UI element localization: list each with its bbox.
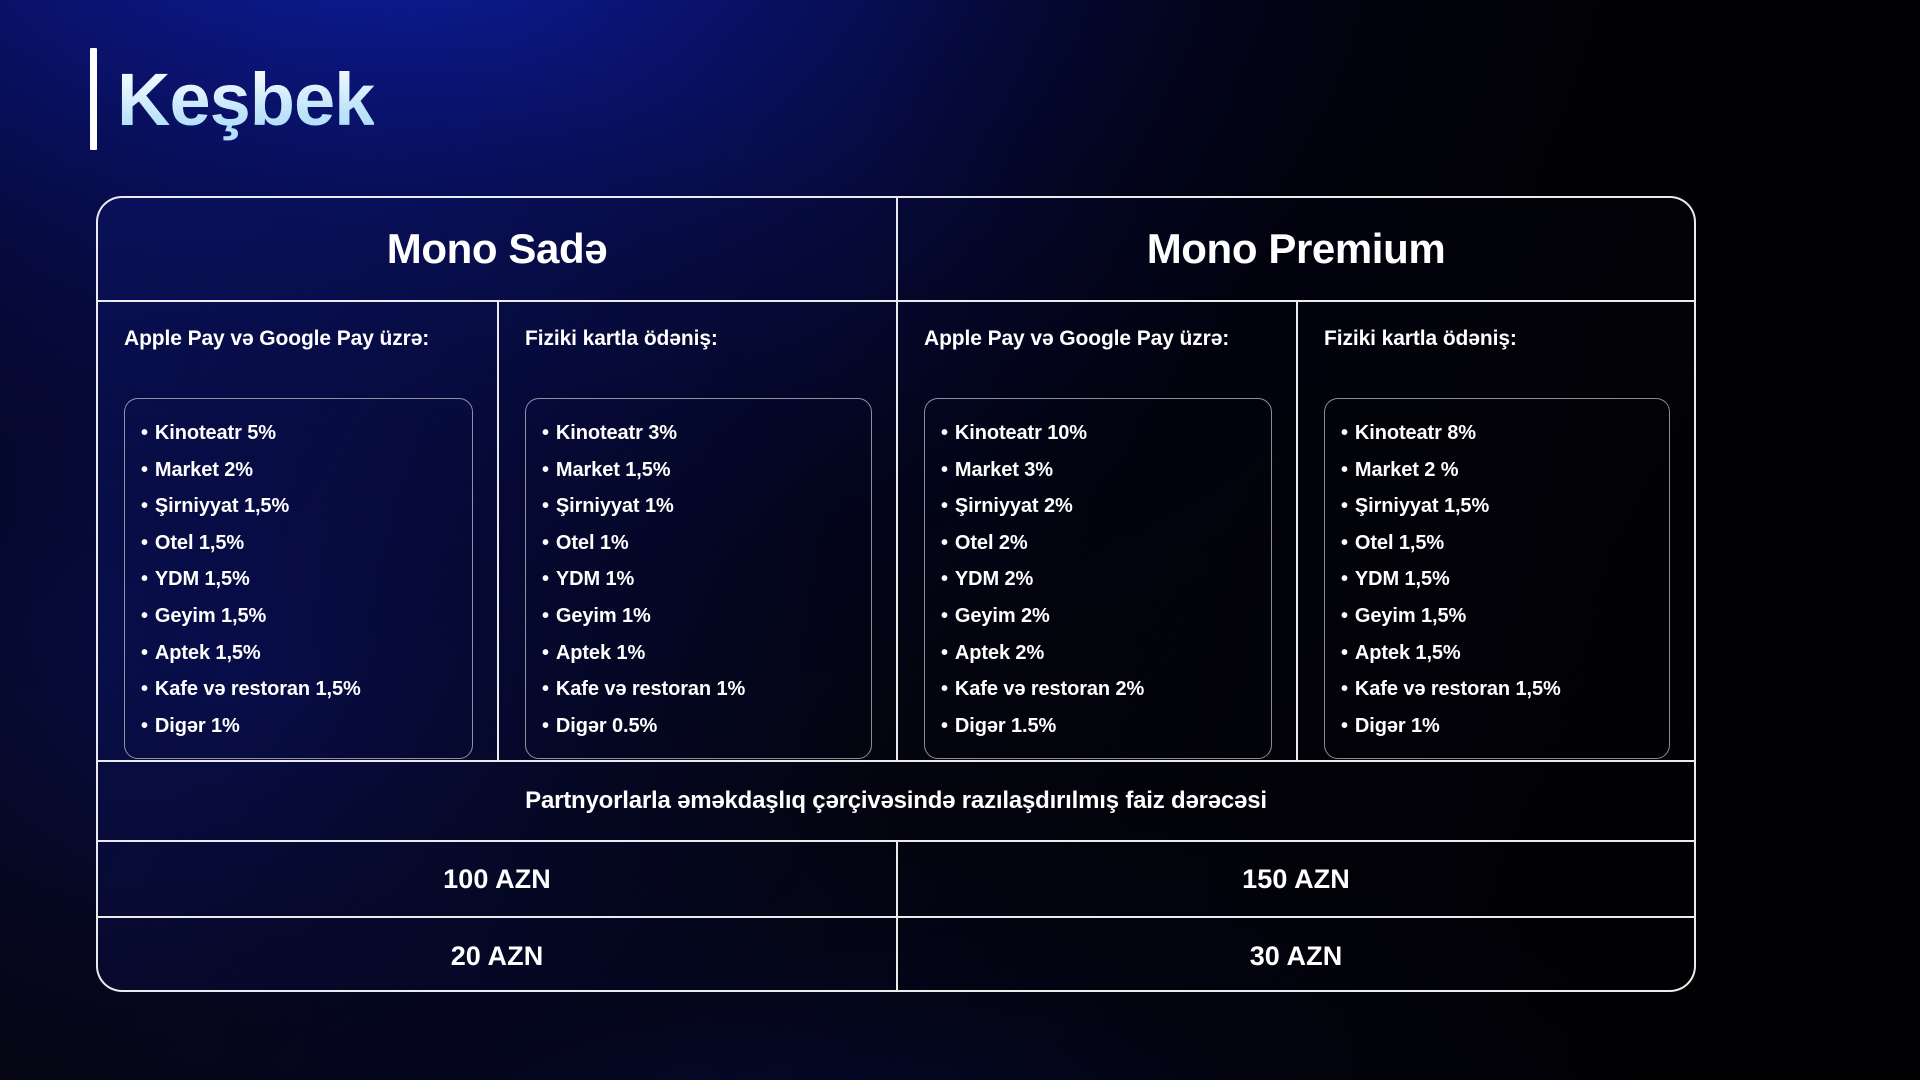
list-item-label: Kafe və restoran 1,5% [1355,678,1561,700]
list-item: •Market 3% [941,452,1255,489]
list-item: •Digər 0.5% [542,708,855,745]
list-item: •Geyim 1% [542,598,855,635]
bullet-icon: • [542,715,549,737]
bullet-icon: • [141,532,148,554]
list-item-label: Digər 0.5% [556,715,657,737]
bullet-icon: • [542,605,549,627]
list-item-label: YDM 1,5% [1355,568,1450,590]
list-item-label: Market 2% [155,459,253,481]
list-item: •Market 2% [141,452,456,489]
list-item-label: Geyim 2% [955,605,1050,627]
list-item: •Digər 1.5% [941,708,1255,745]
page-title-text: Keşbek [117,48,374,152]
list-item-label: Geyim 1,5% [155,605,266,627]
amount-cell-premium-first: 150 AZN [896,842,1694,916]
list-item-label: Kafe və restoran 2% [955,678,1144,700]
list-item-label: YDM 1% [556,568,634,590]
items-box-premium-digital: •Kinoteatr 10% •Market 3% •Şirniyyat 2% … [924,398,1272,759]
bullet-icon: • [141,605,148,627]
plan-header-premium: Mono Premium [896,198,1694,300]
list-item-label: Otel 2% [955,532,1028,554]
bullet-icon: • [941,642,948,664]
list-item: •Aptek 2% [941,635,1255,672]
items-box-sade-physical: •Kinoteatr 3% •Market 1,5% •Şirniyyat 1%… [525,398,872,759]
bullet-icon: • [1341,715,1348,737]
list-item-label: Digər 1.5% [955,715,1056,737]
list-item: •YDM 1% [542,561,855,598]
list-item-label: Geyim 1,5% [1355,605,1466,627]
list-item: •YDM 1,5% [1341,561,1653,598]
plan-header-row: Mono Sadə Mono Premium [98,198,1694,302]
bullet-icon: • [941,495,948,517]
bullet-icon: • [941,715,948,737]
list-item: •Aptek 1,5% [1341,635,1653,672]
list-item-label: Otel 1,5% [155,532,244,554]
list-item-label: Geyim 1% [556,605,651,627]
list-item-label: Kinoteatr 3% [556,422,677,444]
column-sade-physical: Fiziki kartla ödəniş: •Kinoteatr 3% •Mar… [497,302,896,760]
list-item: •Geyim 2% [941,598,1255,635]
bullet-icon: • [1341,459,1348,481]
page-title: Keşbek [90,48,374,152]
bullet-icon: • [542,495,549,517]
column-sade-digital: Apple Pay və Google Pay üzrə: •Kinoteatr… [98,302,497,760]
amount-cell-sade-second: 20 AZN [98,918,896,992]
amount-value: 150 AZN [1242,864,1350,895]
list-item: •Kinoteatr 3% [542,415,855,452]
list-item: •Kafe və restoran 1% [542,671,855,708]
bullet-icon: • [1341,642,1348,664]
bullet-icon: • [1341,532,1348,554]
list-item-label: Kafe və restoran 1,5% [155,678,361,700]
column-title-sade-digital: Apple Pay və Google Pay üzrə: [124,324,473,384]
column-premium-physical: Fiziki kartla ödəniş: •Kinoteatr 8% •Mar… [1296,302,1694,760]
items-box-sade-digital: •Kinoteatr 5% •Market 2% •Şirniyyat 1,5%… [124,398,473,759]
list-item: •Kinoteatr 10% [941,415,1255,452]
partner-note-row: Partnyorlarla əməkdaşlıq çərçivəsində ra… [98,762,1694,842]
bullet-icon: • [141,422,148,444]
bullet-icon: • [542,459,549,481]
bullet-icon: • [542,568,549,590]
list-item: •Market 2 % [1341,452,1653,489]
list-item: •Şirniyyat 2% [941,488,1255,525]
bullet-icon: • [1341,605,1348,627]
plan-group-sade: Apple Pay və Google Pay üzrə: •Kinoteatr… [98,302,896,760]
bullet-icon: • [542,642,549,664]
bullet-icon: • [1341,678,1348,700]
amount-row-second: 20 AZN 30 AZN [98,918,1694,992]
list-item-label: Şirniyyat 2% [955,495,1073,517]
list-item: •Kinoteatr 8% [1341,415,1653,452]
column-premium-digital: Apple Pay və Google Pay üzrə: •Kinoteatr… [898,302,1296,760]
plan-columns-row: Apple Pay və Google Pay üzrə: •Kinoteatr… [98,302,1694,762]
plan-header-sade: Mono Sadə [98,198,896,300]
list-item: •Digər 1% [1341,708,1653,745]
bullet-icon: • [941,422,948,444]
amount-value: 30 AZN [1250,941,1343,972]
list-item-label: YDM 2% [955,568,1033,590]
list-item: •Otel 1,5% [141,525,456,562]
list-item-label: Kinoteatr 10% [955,422,1087,444]
list-item: •Geyim 1,5% [141,598,456,635]
amount-value: 100 AZN [443,864,551,895]
list-item: •Digər 1% [141,708,456,745]
items-box-premium-physical: •Kinoteatr 8% •Market 2 % •Şirniyyat 1,5… [1324,398,1670,759]
column-title-premium-physical: Fiziki kartla ödəniş: [1324,324,1670,384]
list-item: •Otel 2% [941,525,1255,562]
list-item: •Şirniyyat 1,5% [141,488,456,525]
list-item-label: Digər 1% [1355,715,1440,737]
amount-cell-premium-second: 30 AZN [896,918,1694,992]
column-title-sade-physical: Fiziki kartla ödəniş: [525,324,872,384]
list-item-label: Market 3% [955,459,1053,481]
list-item: •Geyim 1,5% [1341,598,1653,635]
amount-cell-sade-first: 100 AZN [98,842,896,916]
list-item-label: Otel 1% [556,532,629,554]
bullet-icon: • [1341,495,1348,517]
bullet-icon: • [141,568,148,590]
list-item-label: Şirniyyat 1,5% [155,495,289,517]
column-title-premium-digital: Apple Pay və Google Pay üzrə: [924,324,1272,384]
list-item-label: Market 2 % [1355,459,1459,481]
plan-name-premium: Mono Premium [1147,225,1446,273]
list-item: •Aptek 1% [542,635,855,672]
list-item: •Şirniyyat 1,5% [1341,488,1653,525]
partner-note-text: Partnyorlarla əməkdaşlıq çərçivəsində ra… [525,787,1267,815]
bullet-icon: • [542,678,549,700]
bullet-icon: • [941,678,948,700]
amount-value: 20 AZN [451,941,544,972]
amount-row-first: 100 AZN 150 AZN [98,842,1694,918]
list-item-label: Şirniyyat 1,5% [1355,495,1489,517]
cashback-table: Mono Sadə Mono Premium Apple Pay və Goog… [96,196,1696,992]
list-item-label: Aptek 1% [556,642,645,664]
title-accent-bar [90,48,97,150]
list-item: •Kinoteatr 5% [141,415,456,452]
bullet-icon: • [1341,568,1348,590]
bullet-icon: • [141,642,148,664]
bullet-icon: • [542,532,549,554]
list-item-label: Digər 1% [155,715,240,737]
bullet-icon: • [941,568,948,590]
list-item-label: Kafe və restoran 1% [556,678,745,700]
slide-stage: Keşbek Mono Sadə Mono Premium Apple Pay … [0,0,1920,1080]
bullet-icon: • [141,715,148,737]
list-item: •YDM 2% [941,561,1255,598]
list-item-label: Şirniyyat 1% [556,495,674,517]
bullet-icon: • [941,605,948,627]
plan-name-sade: Mono Sadə [387,225,607,273]
list-item: •Kafe və restoran 1,5% [141,671,456,708]
list-item: •Kafe və restoran 1,5% [1341,671,1653,708]
list-item: •Otel 1% [542,525,855,562]
list-item-label: Aptek 2% [955,642,1044,664]
list-item: •Kafe və restoran 2% [941,671,1255,708]
bullet-icon: • [542,422,549,444]
bullet-icon: • [941,459,948,481]
list-item: •Aptek 1,5% [141,635,456,672]
bullet-icon: • [1341,422,1348,444]
list-item: •Market 1,5% [542,452,855,489]
list-item-label: Kinoteatr 8% [1355,422,1476,444]
list-item-label: YDM 1,5% [155,568,250,590]
bullet-icon: • [141,459,148,481]
list-item: •YDM 1,5% [141,561,456,598]
list-item-label: Aptek 1,5% [1355,642,1461,664]
list-item: •Otel 1,5% [1341,525,1653,562]
plan-group-premium: Apple Pay və Google Pay üzrə: •Kinoteatr… [896,302,1694,760]
bullet-icon: • [141,495,148,517]
list-item: •Şirniyyat 1% [542,488,855,525]
bullet-icon: • [941,532,948,554]
list-item-label: Otel 1,5% [1355,532,1444,554]
list-item-label: Aptek 1,5% [155,642,261,664]
list-item-label: Kinoteatr 5% [155,422,276,444]
list-item-label: Market 1,5% [556,459,671,481]
bullet-icon: • [141,678,148,700]
